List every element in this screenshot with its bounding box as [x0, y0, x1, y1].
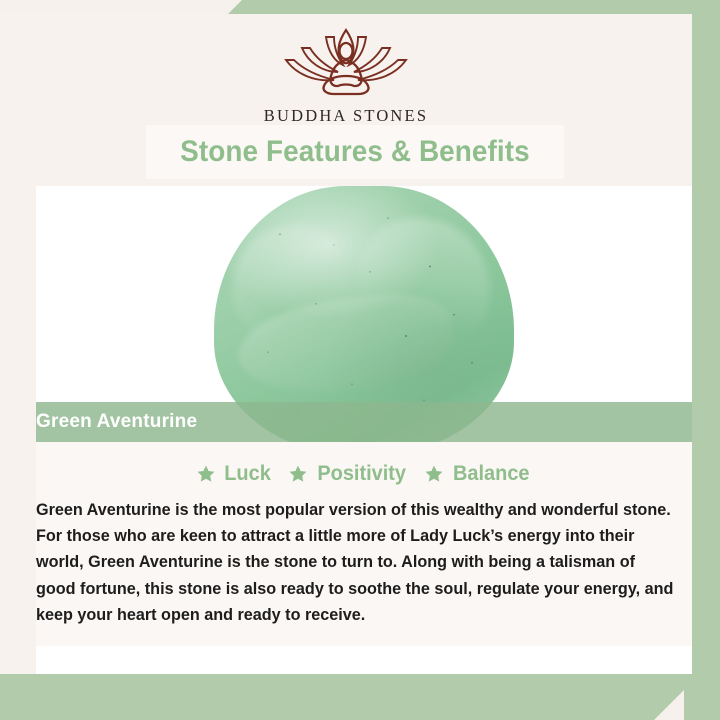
benefit-label: Luck: [224, 462, 271, 486]
benefit-label: Balance: [453, 462, 530, 486]
benefit-item-luck: Luck: [196, 462, 272, 486]
description-paragraph: Green Aventurine is the most popular ver…: [36, 497, 692, 628]
star-icon: [288, 464, 308, 484]
stone-name-bar: Green Aventurine: [36, 402, 692, 442]
title-banner: Stone Features & Benefits: [146, 125, 564, 179]
stone-name-label: Green Aventurine: [24, 411, 197, 433]
star-icon: [424, 464, 444, 484]
bottom-white-strip: [36, 646, 692, 674]
benefit-item-balance: Balance: [424, 462, 532, 486]
lotus-meditation-icon: [264, 24, 428, 100]
brand-logo: BUDDHA STONES: [0, 24, 692, 126]
frame-bottom-band: [0, 674, 700, 720]
stone-description-section: Luck Positivity Balance Green Aventurine…: [36, 442, 692, 674]
page-title: Stone Features & Benefits: [180, 135, 530, 169]
description-text: Green Aventurine is the most popular ver…: [36, 497, 692, 628]
benefit-item-positivity: Positivity: [288, 462, 408, 486]
benefit-label: Positivity: [317, 462, 406, 486]
brand-wordmark: BUDDHA STONES: [264, 106, 428, 126]
star-icon: [196, 464, 216, 484]
benefits-row: Luck Positivity Balance: [36, 442, 692, 486]
